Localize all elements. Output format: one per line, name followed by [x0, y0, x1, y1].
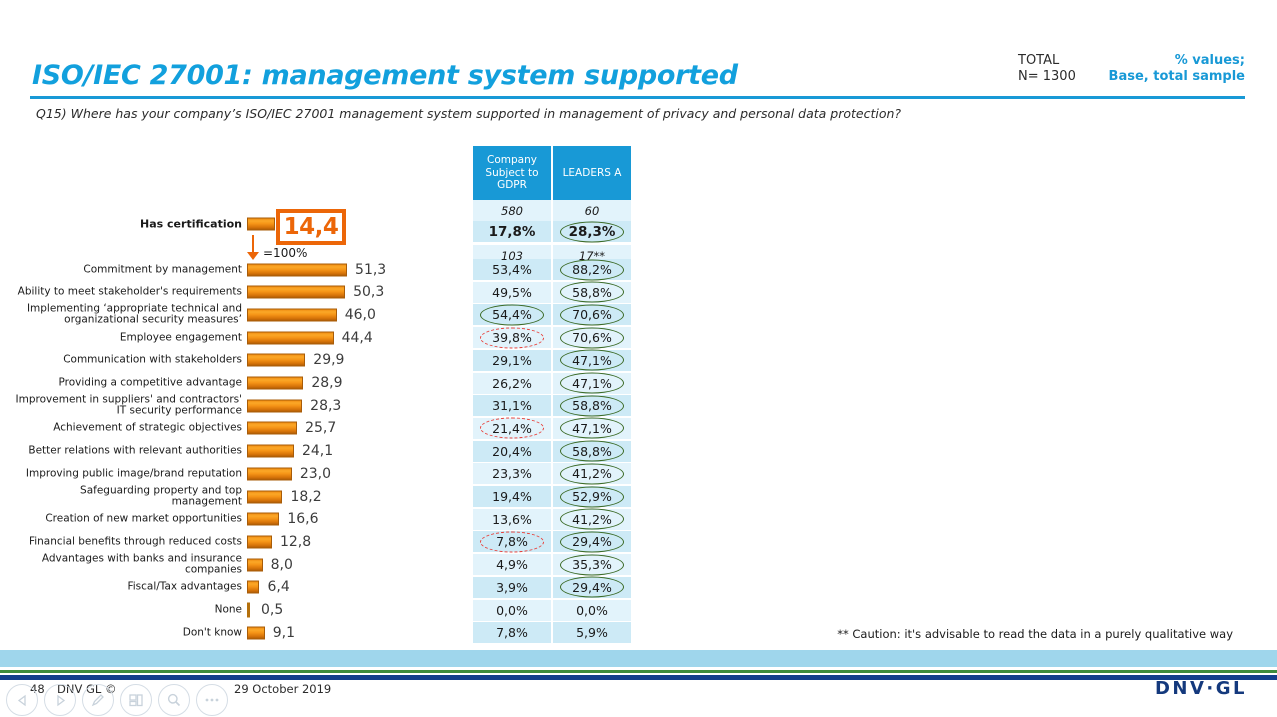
chart-row: Improving public image/brand reputation2…	[0, 464, 470, 484]
bar-label: Communication with stakeholders	[12, 355, 242, 367]
bar-value: 8,0	[271, 557, 293, 573]
bar-value: 0,5	[261, 602, 283, 618]
bar-label: Creation of new market opportunities	[12, 513, 242, 525]
table-cell-value: 39,8%	[492, 330, 532, 345]
bar-label: Implementing ‘appropriate technical and …	[12, 303, 242, 326]
table-cell-value: 19,4%	[492, 489, 532, 504]
table-cell-value: 13,6%	[492, 512, 532, 527]
chart-row: None0,5	[0, 600, 470, 620]
bar	[247, 490, 282, 503]
table-cell: 29,4%	[553, 531, 631, 552]
bar-value: 9,1	[273, 625, 295, 641]
table-cell: 13,6%	[473, 509, 551, 530]
chart-row: Providing a competitive advantage28,9	[0, 373, 470, 393]
table-cell-value: 47,1%	[572, 421, 612, 436]
table-cell: 52,9%	[553, 486, 631, 507]
table-cell: 0,0%	[553, 600, 631, 621]
table-cell: 54,4%	[473, 304, 551, 325]
table-cell: 47,1%	[553, 350, 631, 371]
table-cell-value: 3,9%	[496, 580, 528, 595]
table-cell-value: 580	[501, 204, 523, 218]
table-cell: 580	[473, 200, 551, 221]
bar-value: 44,4	[342, 330, 373, 346]
table-cell: 4,9%	[473, 554, 551, 575]
slideshow-toolbar[interactable]	[6, 684, 228, 716]
table-cell: 5,9%	[553, 622, 631, 643]
table-cell: 29,4%	[553, 577, 631, 598]
bar-label: Better relations with relevant authoriti…	[12, 445, 242, 457]
bar-value: 23,0	[300, 466, 331, 482]
bar-chart: Has certificationCommitment by managemen…	[0, 0, 470, 717]
bar-label: Financial benefits through reduced costs	[12, 536, 242, 548]
table-cell-value: 53,4%	[492, 262, 532, 277]
table-cell: 3,9%	[473, 577, 551, 598]
bar	[247, 308, 337, 321]
bar	[247, 422, 297, 435]
table-cell-value: 7,8%	[496, 534, 528, 549]
bar-label: Don't know	[12, 627, 242, 639]
more-icon[interactable]	[196, 684, 228, 716]
table-cell: 19,4%	[473, 486, 551, 507]
bar	[247, 535, 272, 548]
table-cell-value: 17,8%	[489, 224, 536, 240]
bar-label: Fiscal/Tax advantages	[12, 582, 242, 594]
table-cell: 88,2%	[553, 259, 631, 280]
bar-value: 28,9	[311, 375, 342, 391]
table-cell-value: 4,9%	[496, 557, 528, 572]
bar	[247, 354, 305, 367]
table-cell-value: 29,1%	[492, 353, 532, 368]
chart-row: Ability to meet stakeholder's requiremen…	[0, 282, 470, 302]
table-cell: 47,1%	[553, 373, 631, 394]
values-note: % values; Base, total sample	[1109, 53, 1245, 85]
bar-value: 18,2	[290, 489, 321, 505]
table-cell: 49,5%	[473, 282, 551, 303]
chart-row: Fiscal/Tax advantages6,4	[0, 577, 470, 597]
table-cell-value: 28,3%	[569, 224, 616, 240]
values-note-line1: % values;	[1109, 53, 1245, 69]
bar	[247, 331, 334, 344]
table-cell-value: 7,8%	[496, 625, 528, 640]
table-cell-value: 20,4%	[492, 444, 532, 459]
chart-row: Improvement in suppliers' and contractor…	[0, 396, 470, 416]
bar	[247, 263, 347, 276]
bar-label: Providing a competitive advantage	[12, 377, 242, 389]
chart-row: Employee engagement44,4	[0, 328, 470, 348]
table-cell-value: 88,2%	[572, 262, 612, 277]
table-cell-value: 41,2%	[572, 512, 612, 527]
bar	[247, 399, 302, 412]
layout-icon[interactable]	[120, 684, 152, 716]
bar	[247, 603, 250, 618]
table-cell-value: 103	[501, 249, 523, 263]
bar-value: 25,7	[305, 420, 336, 436]
values-note-line2: Base, total sample	[1109, 69, 1245, 85]
table-cell: 7,8%	[473, 531, 551, 552]
table-cell: 60	[553, 200, 631, 221]
chart-row: Financial benefits through reduced costs…	[0, 532, 470, 552]
chart-row: Commitment by management51,3	[0, 260, 470, 280]
table-cell: 35,3%	[553, 554, 631, 575]
table-cell: 29,1%	[473, 350, 551, 371]
table-cell: 53,4%	[473, 259, 551, 280]
footer-band-blue	[0, 650, 1277, 667]
chart-row: Achievement of strategic objectives25,7	[0, 418, 470, 438]
bar-label: Commitment by management	[12, 264, 242, 276]
bar	[247, 445, 294, 458]
next-icon[interactable]	[44, 684, 76, 716]
table-cell-value: 58,8%	[572, 398, 612, 413]
search-icon[interactable]	[158, 684, 190, 716]
bar	[247, 513, 279, 526]
table-cell-value: 29,4%	[572, 580, 612, 595]
bar-value: 51,3	[355, 262, 386, 278]
table-cell-value: 41,2%	[572, 466, 612, 481]
bar-label: Improvement in suppliers' and contractor…	[12, 394, 242, 417]
dnv-gl-logo: DNV·GL	[1155, 678, 1247, 699]
chart-row: Don't know9,1	[0, 623, 470, 643]
bar	[247, 467, 292, 480]
chart-row-header: Has certification	[0, 214, 470, 234]
table-cell-value: 47,1%	[572, 353, 612, 368]
bar-label: Ability to meet stakeholder's requiremen…	[12, 286, 242, 298]
callout-arrow-head	[247, 252, 259, 260]
table-cell: 41,2%	[553, 509, 631, 530]
table-cell-value: 17**	[579, 249, 605, 263]
table-cell-value: 0,0%	[576, 603, 608, 618]
bar-label: Has certification	[12, 218, 242, 230]
table-cell-value: 5,9%	[576, 625, 608, 640]
pen-icon[interactable]	[82, 684, 114, 716]
total-n: N= 1300	[1018, 69, 1076, 85]
chart-row: Safeguarding property and top management…	[0, 487, 470, 507]
bar-value: 29,9	[313, 352, 344, 368]
table-cell-value: 60	[585, 204, 600, 218]
table-cell: 7,8%	[473, 622, 551, 643]
bar-label: None	[12, 604, 242, 616]
certification-callout-value: 14,4	[284, 214, 339, 240]
bar	[247, 581, 259, 594]
table-cell: 39,8%	[473, 327, 551, 348]
chart-row: Advantages with banks and insurance comp…	[0, 555, 470, 575]
caution-note: ** Caution: it's advisable to read the d…	[837, 627, 1233, 641]
footer-band-green	[0, 670, 1277, 673]
bar	[247, 286, 345, 299]
total-label: TOTAL	[1018, 53, 1076, 69]
bar-label: Employee engagement	[12, 332, 242, 344]
bar-label: Achievement of strategic objectives	[12, 423, 242, 435]
table-cell: 58,8%	[553, 441, 631, 462]
table-cell: 21,4%	[473, 418, 551, 439]
slide-canvas: ISO/IEC 27001: management system support…	[0, 0, 1277, 717]
table-cell-value: 23,3%	[492, 466, 532, 481]
table-cell: 23,3%	[473, 463, 551, 484]
table-cell: 20,4%	[473, 441, 551, 462]
chart-row: Communication with stakeholders29,9	[0, 350, 470, 370]
table-cell-value: 47,1%	[572, 376, 612, 391]
table-cell-value: 35,3%	[572, 557, 612, 572]
equals-100-label: =100%	[263, 246, 307, 260]
bar-value: 16,6	[287, 511, 318, 527]
bar	[247, 377, 303, 390]
bar-value: 6,4	[267, 579, 289, 595]
bar	[247, 218, 275, 231]
bar-value: 12,8	[280, 534, 311, 550]
table-cell-value: 54,4%	[492, 307, 532, 322]
table-column-header: LEADERS A	[553, 146, 631, 200]
table-cell: 70,6%	[553, 304, 631, 325]
table-cell: 26,2%	[473, 373, 551, 394]
table-cell: 41,2%	[553, 463, 631, 484]
bar-label: Safeguarding property and top management	[12, 485, 242, 508]
table-cell-value: 31,1%	[492, 398, 532, 413]
table-cell-value: 58,8%	[572, 444, 612, 459]
table-column-header: Company Subject to GDPR	[473, 146, 551, 200]
table-cell-value: 70,6%	[572, 330, 612, 345]
table-cell: 31,1%	[473, 395, 551, 416]
table-cell: 17,8%	[473, 221, 551, 242]
table-cell-value: 70,6%	[572, 307, 612, 322]
total-base-info: TOTAL N= 1300	[1018, 53, 1076, 85]
table-cell: 70,6%	[553, 327, 631, 348]
table-cell-value: 49,5%	[492, 285, 532, 300]
previous-icon[interactable]	[6, 684, 38, 716]
table-cell-value: 58,8%	[572, 285, 612, 300]
bar-value: 46,0	[345, 307, 376, 323]
slide-date: 29 October 2019	[234, 682, 331, 696]
bar-label: Advantages with banks and insurance comp…	[12, 553, 242, 576]
chart-row: Creation of new market opportunities16,6	[0, 509, 470, 529]
table-cell-value: 21,4%	[492, 421, 532, 436]
certification-callout: 14,4	[276, 209, 346, 245]
chart-row: Better relations with relevant authoriti…	[0, 441, 470, 461]
bar	[247, 626, 265, 639]
chart-row: Implementing ‘appropriate technical and …	[0, 305, 470, 325]
table-cell-value: 52,9%	[572, 489, 612, 504]
table-cell: 58,8%	[553, 282, 631, 303]
table-cell-value: 0,0%	[496, 603, 528, 618]
bar-value: 50,3	[353, 284, 384, 300]
table-cell-value: 26,2%	[492, 376, 532, 391]
bar-label: Improving public image/brand reputation	[12, 468, 242, 480]
table-cell: 28,3%	[553, 221, 631, 242]
bar-value: 28,3	[310, 398, 341, 414]
table-cell: 47,1%	[553, 418, 631, 439]
footer-band-navy	[0, 675, 1277, 680]
table-cell-value: 29,4%	[572, 534, 612, 549]
table-cell: 58,8%	[553, 395, 631, 416]
bar-value: 24,1	[302, 443, 333, 459]
bar	[247, 558, 263, 571]
table-cell: 0,0%	[473, 600, 551, 621]
